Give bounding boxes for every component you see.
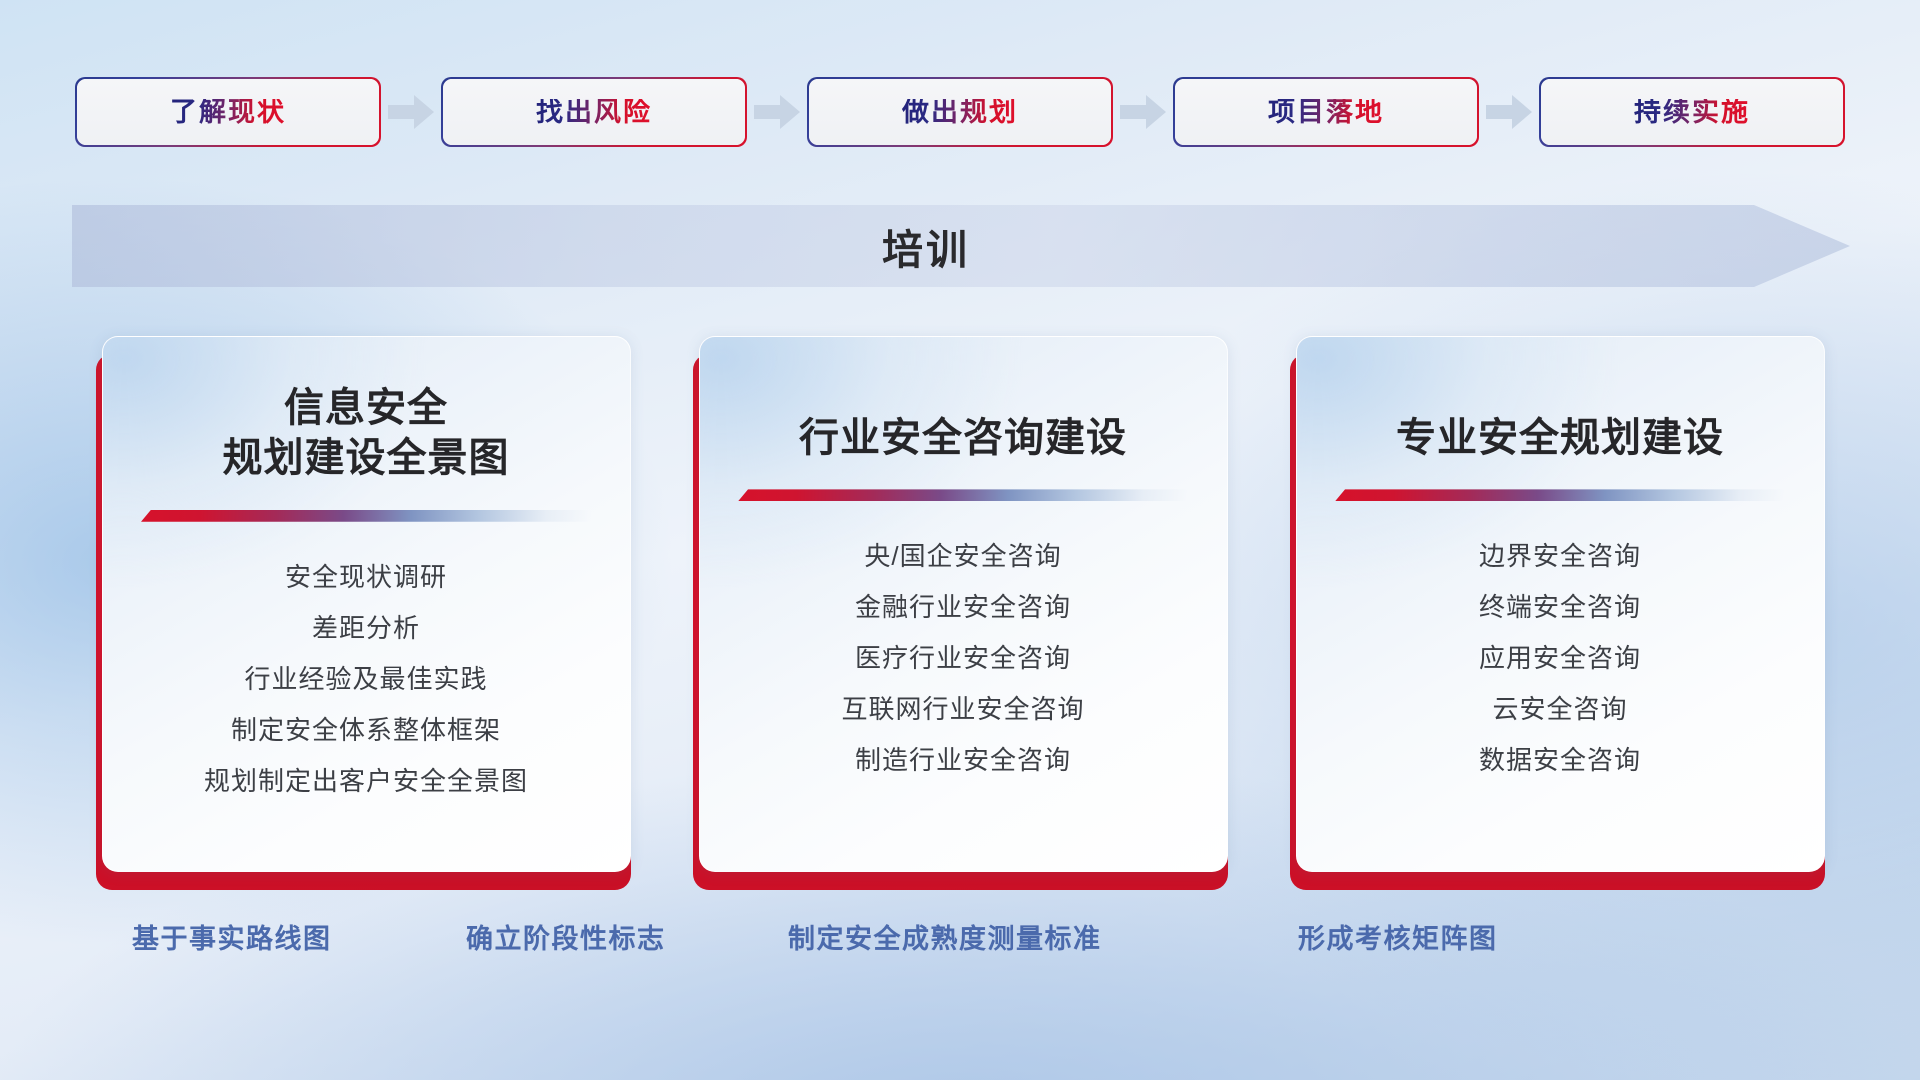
step-box-2[interactable]: 找出风险 [443, 79, 745, 145]
banner-title: 培训 [72, 205, 1850, 287]
footer-label-3: 制定安全成熟度测量标准 [788, 912, 1102, 960]
list-item: 金融行业安全咨询 [855, 582, 1071, 633]
step-box-3[interactable]: 做出规划 [809, 79, 1111, 145]
footer-label-4: 形成考核矩阵图 [1298, 912, 1498, 960]
card-title: 行业安全咨询建设 [799, 383, 1127, 463]
service-card-2[interactable]: 行业安全咨询建设 央/国企安全咨询 金融行业安全咨询 医疗行业安全咨询 互联网行… [693, 336, 1228, 890]
card-surface: 行业安全咨询建设 央/国企安全咨询 金融行业安全咨询 医疗行业安全咨询 互联网行… [699, 336, 1228, 872]
footer-label-1: 基于事实路线图 [132, 912, 332, 960]
arrow-right-icon [745, 92, 809, 132]
card-divider [141, 510, 591, 522]
card-title: 专业安全规划建设 [1396, 383, 1724, 463]
footer-label-row: 基于事实路线图 确立阶段性标志 制定安全成熟度测量标准 形成考核矩阵图 [0, 912, 1920, 960]
list-item: 互联网行业安全咨询 [841, 684, 1084, 735]
card-list: 边界安全咨询 终端安全咨询 应用安全咨询 云安全咨询 数据安全咨询 [1325, 531, 1796, 786]
step-label: 找出风险 [536, 99, 652, 126]
step-label: 持续实施 [1634, 99, 1750, 126]
card-title-line-1: 信息安全 [223, 383, 510, 433]
card-title-line-1: 行业安全咨询建设 [799, 413, 1127, 463]
list-item: 行业经验及最佳实践 [244, 654, 487, 705]
list-item: 医疗行业安全咨询 [855, 633, 1071, 684]
card-list: 安全现状调研 差距分析 行业经验及最佳实践 制定安全体系整体框架 规划制定出客户… [131, 552, 602, 807]
footer-label-2: 确立阶段性标志 [466, 912, 666, 960]
card-divider [738, 489, 1188, 501]
card-surface: 专业安全规划建设 边界安全咨询 终端安全咨询 应用安全咨询 云安全咨询 数据安全… [1296, 336, 1825, 872]
list-item: 终端安全咨询 [1479, 582, 1641, 633]
service-card-row: 信息安全 规划建设全景图 安全现状调研 差距分析 行业经验及最佳实践 制定安全体… [0, 336, 1920, 890]
card-list: 央/国企安全咨询 金融行业安全咨询 医疗行业安全咨询 互联网行业安全咨询 制造行… [728, 531, 1199, 786]
list-item: 安全现状调研 [285, 552, 447, 603]
list-item: 规划制定出客户安全全景图 [204, 756, 528, 807]
step-label: 项目落地 [1268, 99, 1384, 126]
service-card-3[interactable]: 专业安全规划建设 边界安全咨询 终端安全咨询 应用安全咨询 云安全咨询 数据安全… [1290, 336, 1825, 890]
card-surface: 信息安全 规划建设全景图 安全现状调研 差距分析 行业经验及最佳实践 制定安全体… [102, 336, 631, 872]
step-box-4[interactable]: 项目落地 [1175, 79, 1477, 145]
card-title: 信息安全 规划建设全景图 [223, 383, 510, 484]
list-item: 制定安全体系整体框架 [231, 705, 501, 756]
list-item: 差距分析 [312, 603, 420, 654]
list-item: 数据安全咨询 [1479, 735, 1641, 786]
arrow-right-icon [1477, 92, 1541, 132]
card-divider [1335, 489, 1785, 501]
step-box-5[interactable]: 持续实施 [1541, 79, 1843, 145]
list-item: 边界安全咨询 [1479, 531, 1641, 582]
arrow-right-icon [379, 92, 443, 132]
training-banner: 培训 [72, 205, 1850, 287]
process-step-row: 了解现状 找出风险 做出规划 项目落地 持续实施 [0, 78, 1920, 146]
step-label: 做出规划 [902, 99, 1018, 126]
list-item: 央/国企安全咨询 [864, 531, 1061, 582]
list-item: 制造行业安全咨询 [855, 735, 1071, 786]
list-item: 应用安全咨询 [1479, 633, 1641, 684]
step-box-1[interactable]: 了解现状 [77, 79, 379, 145]
card-title-line-2: 规划建设全景图 [223, 433, 510, 483]
arrow-right-icon [1111, 92, 1175, 132]
step-label: 了解现状 [170, 99, 286, 126]
service-card-1[interactable]: 信息安全 规划建设全景图 安全现状调研 差距分析 行业经验及最佳实践 制定安全体… [96, 336, 631, 890]
card-title-line-1: 专业安全规划建设 [1396, 413, 1724, 463]
list-item: 云安全咨询 [1492, 684, 1627, 735]
